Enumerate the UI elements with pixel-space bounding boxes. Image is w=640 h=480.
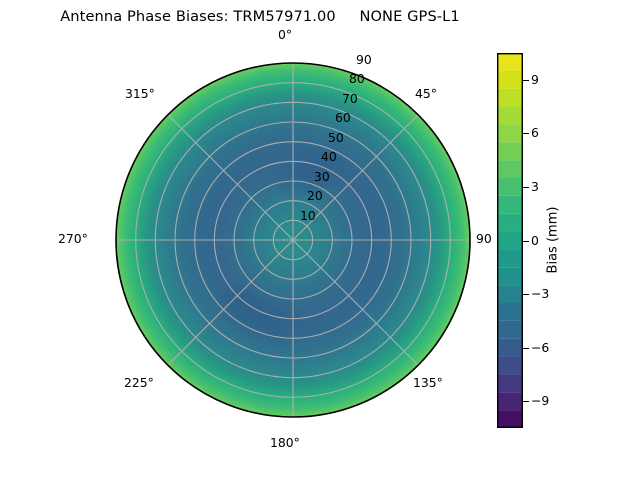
colorbar: 9 6 3 0 −3 −6 −9 — [497, 53, 523, 428]
figure-title: Antenna Phase Biases: TRM57971.00 NONE G… — [0, 8, 520, 25]
angular-tick-135: 135° — [413, 377, 443, 389]
colorbar-tick-label-neg6: −6 — [531, 341, 549, 353]
angular-tick-90: 90 — [476, 233, 492, 245]
figure-canvas: Antenna Phase Biases: TRM57971.00 NONE G… — [0, 0, 640, 480]
angular-tick-0: 0° — [278, 29, 292, 41]
colorbar-tick-label-9: 9 — [531, 74, 539, 86]
colorbar-tick-mark-neg9 — [523, 401, 529, 402]
colorbar-tick-mark-neg3 — [523, 294, 529, 295]
colorbar-tick-label-3: 3 — [531, 181, 539, 193]
radial-tick-60: 60 — [335, 112, 351, 124]
polar-plot-svg — [115, 62, 471, 418]
angular-tick-180: 180° — [270, 437, 300, 449]
radial-tick-30: 30 — [314, 171, 330, 183]
colorbar-tick-label-neg9: −9 — [531, 395, 549, 407]
angular-tick-225: 225° — [124, 377, 154, 389]
colorbar-tick-mark-6 — [523, 133, 529, 134]
radial-tick-50: 50 — [328, 132, 344, 144]
colorbar-gradient — [497, 53, 523, 428]
radial-tick-10: 10 — [300, 210, 316, 222]
polar-axes: 0° 45° 90 135° 180° 225° 270° 315° 10 20… — [115, 62, 471, 418]
colorbar-axis-label: Bias (mm) — [547, 207, 560, 274]
radial-tick-40: 40 — [321, 151, 337, 163]
colorbar-bands — [497, 53, 523, 428]
polar-grid — [116, 63, 470, 417]
angular-tick-45: 45° — [415, 88, 437, 100]
radial-tick-70: 70 — [342, 93, 358, 105]
radial-tick-90: 90 — [356, 54, 372, 66]
colorbar-tick-label-neg3: −3 — [531, 288, 549, 300]
angular-tick-315: 315° — [125, 88, 155, 100]
colorbar-tick-mark-0 — [523, 241, 529, 242]
colorbar-tick-label-0: 0 — [531, 234, 539, 246]
radial-tick-20: 20 — [307, 190, 323, 202]
colorbar-tick-mark-3 — [523, 187, 529, 188]
colorbar-tick-mark-neg6 — [523, 348, 529, 349]
colorbar-tick-label-6: 6 — [531, 127, 539, 139]
radial-tick-80: 80 — [349, 73, 365, 85]
angular-tick-270: 270° — [58, 233, 88, 245]
colorbar-tick-mark-9 — [523, 80, 529, 81]
